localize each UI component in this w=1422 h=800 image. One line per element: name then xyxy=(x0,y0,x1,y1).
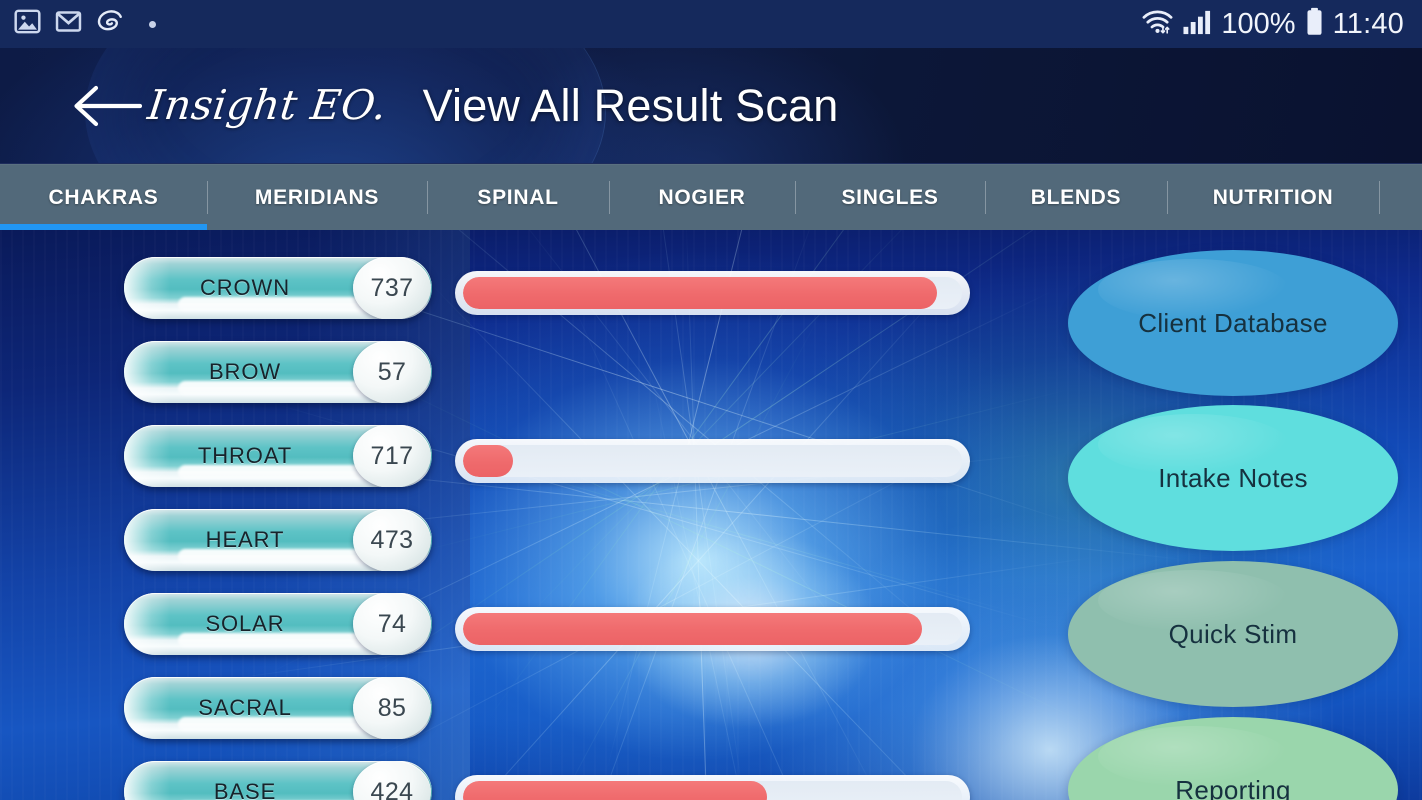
app-header: Insight EO. View All Result Scan xyxy=(0,48,1422,164)
result-progress-bar[interactable] xyxy=(455,271,970,315)
clock-label: 11:40 xyxy=(1333,10,1404,39)
chakra-value: 57 xyxy=(353,341,431,403)
chakra-value: 717 xyxy=(353,425,431,487)
chakra-chip[interactable]: HEART473 xyxy=(124,509,432,571)
signal-bars-icon xyxy=(1183,9,1212,40)
status-bar-left-icons xyxy=(14,8,156,40)
tab-label: BLENDS xyxy=(1031,186,1122,210)
chakra-value: 74 xyxy=(353,593,431,655)
tab-bar[interactable]: CHAKRAS MERIDIANS SPINAL NOGIER SINGLES … xyxy=(0,164,1422,230)
tab-chakras[interactable]: CHAKRAS xyxy=(0,165,207,230)
progress-fill xyxy=(463,277,937,309)
side-action-label: Quick Stim xyxy=(1169,619,1298,650)
brand-logo: Insight EO. xyxy=(145,85,389,126)
tab-label: NUTRITION xyxy=(1213,186,1334,210)
side-action-label: Client Database xyxy=(1138,308,1328,339)
tab-nogier[interactable]: NOGIER xyxy=(609,165,795,230)
page-title: View All Result Scan xyxy=(423,83,839,128)
tab-label: NOGIER xyxy=(658,186,745,210)
active-tab-indicator xyxy=(0,224,207,230)
tab-nutrition[interactable]: NUTRITION xyxy=(1167,165,1379,230)
tab-label: SINGLES xyxy=(841,186,938,210)
app-root: 100% 11:40 Insight EO. View All Result S… xyxy=(0,0,1422,800)
photo-icon xyxy=(14,8,41,40)
groove-swirl-icon xyxy=(96,9,127,40)
chakra-value: 85 xyxy=(353,677,431,739)
results-content: CROWN737BROW57THROAT717HEART473SOLAR74SA… xyxy=(0,230,1422,800)
dot-indicator-icon xyxy=(149,21,156,28)
chakra-value: 473 xyxy=(353,509,431,571)
back-arrow-icon[interactable] xyxy=(70,83,142,129)
battery-full-icon xyxy=(1305,7,1324,41)
tab-label: SPINAL xyxy=(477,186,558,210)
gmail-icon xyxy=(55,8,82,40)
tab-singles[interactable]: SINGLES xyxy=(795,165,985,230)
tab-blends[interactable]: BLENDS xyxy=(985,165,1167,230)
tab-spinal[interactable]: SPINAL xyxy=(427,165,609,230)
chakra-chip[interactable]: SOLAR74 xyxy=(124,593,432,655)
tab-bar-end-divider xyxy=(1379,165,1380,230)
side-action-label: Reporting xyxy=(1175,775,1290,800)
side-action-client-database[interactable]: Client Database xyxy=(1068,250,1398,396)
battery-percent-label: 100% xyxy=(1221,10,1295,39)
chakra-chip[interactable]: BASE424 xyxy=(124,761,432,800)
side-action-quick-stim[interactable]: Quick Stim xyxy=(1068,561,1398,707)
chakra-chip[interactable]: SACRAL85 xyxy=(124,677,432,739)
wifi-icon xyxy=(1141,8,1174,40)
chakra-chip[interactable]: BROW57 xyxy=(124,341,432,403)
chakra-value: 737 xyxy=(353,257,431,319)
chakra-chip[interactable]: CROWN737 xyxy=(124,257,432,319)
progress-track xyxy=(463,277,962,309)
chakra-chip[interactable]: THROAT717 xyxy=(124,425,432,487)
tab-label: CHAKRAS xyxy=(49,186,159,210)
chakra-value: 424 xyxy=(353,761,431,800)
status-bar: 100% 11:40 xyxy=(0,0,1422,48)
tab-label: MERIDIANS xyxy=(255,186,379,210)
side-action-label: Intake Notes xyxy=(1158,463,1308,494)
status-bar-right: 100% 11:40 xyxy=(1141,7,1404,41)
side-action-intake-notes[interactable]: Intake Notes xyxy=(1068,405,1398,551)
tab-meridians[interactable]: MERIDIANS xyxy=(207,165,427,230)
